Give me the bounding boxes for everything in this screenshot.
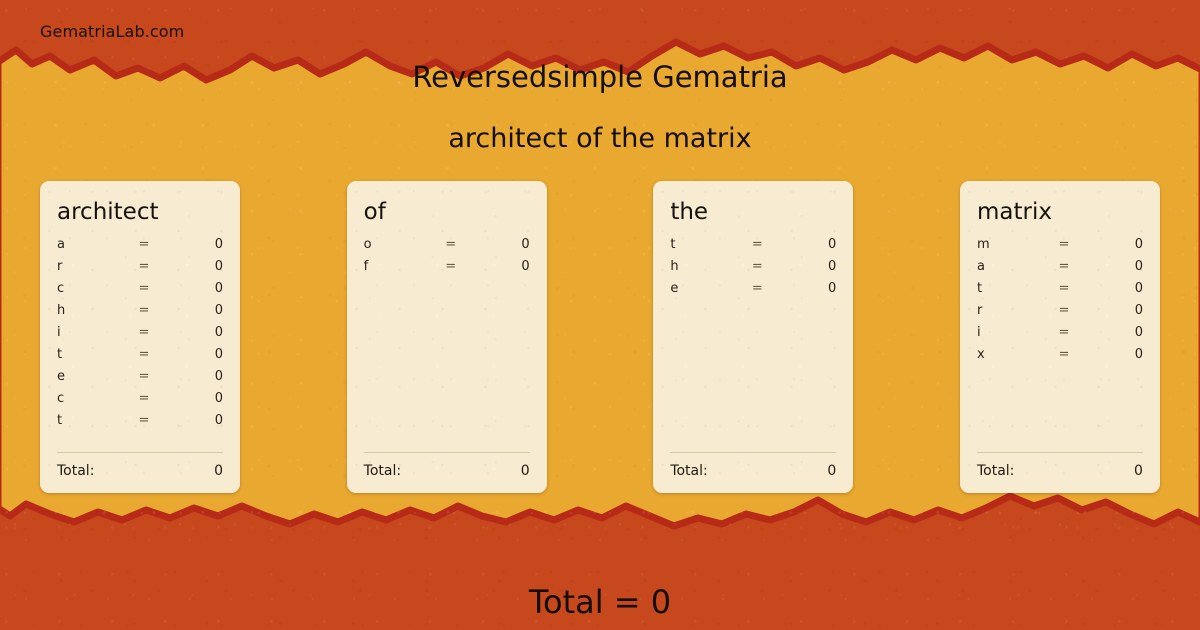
letter: e — [670, 281, 742, 296]
letter-value: 0 — [772, 237, 836, 252]
equals-sign: = — [1049, 303, 1079, 318]
word-card-list: architect a = 0 r = 0 c = 0 h — [40, 181, 1160, 493]
letter-row: e = 0 — [670, 281, 836, 303]
letter: r — [977, 303, 1049, 318]
letter-row: h = 0 — [670, 259, 836, 281]
letter: t — [977, 281, 1049, 296]
equals-sign: = — [1049, 347, 1079, 362]
letter-value: 0 — [159, 369, 223, 384]
equals-sign: = — [129, 259, 159, 274]
letter-value: 0 — [772, 259, 836, 274]
card-divider — [57, 452, 223, 453]
letter-value: 0 — [466, 259, 530, 274]
letter-row: e = 0 — [57, 369, 223, 391]
letter: c — [57, 281, 129, 296]
letter: h — [670, 259, 742, 274]
card-total-value: 0 — [827, 463, 836, 479]
card-total-row: Total: 0 — [364, 463, 530, 479]
equals-sign: = — [1049, 237, 1079, 252]
card-total-label: Total: — [364, 463, 521, 479]
equals-sign: = — [742, 237, 772, 252]
letter: t — [57, 347, 129, 362]
letter-value: 0 — [159, 413, 223, 428]
letter-row: f = 0 — [364, 259, 530, 281]
equals-sign: = — [129, 281, 159, 296]
equals-sign: = — [1049, 259, 1079, 274]
letter-row: x = 0 — [977, 347, 1143, 369]
equals-sign: = — [129, 369, 159, 384]
word-card: architect a = 0 r = 0 c = 0 h — [40, 181, 240, 493]
letter-row: r = 0 — [57, 259, 223, 281]
letter-row: c = 0 — [57, 281, 223, 303]
letter-value-list: m = 0 a = 0 t = 0 r = 0 — [977, 237, 1143, 452]
card-total-label: Total: — [57, 463, 214, 479]
letter-row: t = 0 — [57, 413, 223, 435]
letter: f — [364, 259, 436, 274]
letter-row: i = 0 — [977, 325, 1143, 347]
card-word-title: the — [670, 199, 836, 225]
card-divider — [977, 452, 1143, 453]
equals-sign: = — [742, 281, 772, 296]
letter-row: c = 0 — [57, 391, 223, 413]
equals-sign: = — [129, 391, 159, 406]
letter-row: t = 0 — [670, 237, 836, 259]
word-card: of o = 0 f = 0 Total: 0 — [347, 181, 547, 493]
letter: a — [57, 237, 129, 252]
equals-sign: = — [129, 237, 159, 252]
card-word-title: of — [364, 199, 530, 225]
card-total-value: 0 — [1134, 463, 1143, 479]
equals-sign: = — [129, 347, 159, 362]
letter-row: a = 0 — [57, 237, 223, 259]
letter-row: m = 0 — [977, 237, 1143, 259]
letter: t — [57, 413, 129, 428]
card-total-row: Total: 0 — [57, 463, 223, 479]
equals-sign: = — [1049, 281, 1079, 296]
letter-value: 0 — [1079, 347, 1143, 362]
card-divider — [670, 452, 836, 453]
letter-row: i = 0 — [57, 325, 223, 347]
equals-sign: = — [1049, 325, 1079, 340]
card-total-row: Total: 0 — [670, 463, 836, 479]
word-card: the t = 0 h = 0 e = 0 — [653, 181, 853, 493]
letter: m — [977, 237, 1049, 252]
letter-value: 0 — [159, 237, 223, 252]
equals-sign: = — [129, 413, 159, 428]
equals-sign: = — [129, 325, 159, 340]
letter-value-list: t = 0 h = 0 e = 0 — [670, 237, 836, 452]
equals-sign: = — [129, 303, 159, 318]
letter-value: 0 — [772, 281, 836, 296]
letter-value: 0 — [1079, 259, 1143, 274]
letter-value: 0 — [159, 325, 223, 340]
card-word-title: architect — [57, 199, 223, 225]
card-divider — [364, 452, 530, 453]
word-card: matrix m = 0 a = 0 t = 0 r — [960, 181, 1160, 493]
letter-value: 0 — [159, 281, 223, 296]
letter-value: 0 — [159, 347, 223, 362]
letter-value: 0 — [1079, 237, 1143, 252]
card-word-title: matrix — [977, 199, 1143, 225]
card-total-label: Total: — [670, 463, 827, 479]
letter-value: 0 — [159, 259, 223, 274]
letter-value: 0 — [1079, 325, 1143, 340]
letter-value: 0 — [159, 303, 223, 318]
card-total-label: Total: — [977, 463, 1134, 479]
phrase-subtitle: architect of the matrix — [0, 123, 1200, 154]
letter: r — [57, 259, 129, 274]
letter: e — [57, 369, 129, 384]
letter: t — [670, 237, 742, 252]
letter-row: a = 0 — [977, 259, 1143, 281]
letter-row: o = 0 — [364, 237, 530, 259]
letter-row: t = 0 — [57, 347, 223, 369]
site-logo[interactable]: GematriaLab.com — [40, 22, 184, 41]
equals-sign: = — [436, 259, 466, 274]
letter-value: 0 — [1079, 303, 1143, 318]
equals-sign: = — [742, 259, 772, 274]
grand-total: Total = 0 — [0, 583, 1200, 621]
letter: o — [364, 237, 436, 252]
letter-value: 0 — [159, 391, 223, 406]
letter: a — [977, 259, 1049, 274]
letter-row: t = 0 — [977, 281, 1143, 303]
page-canvas: GematriaLab.com Reversedsimple Gematria … — [0, 0, 1200, 630]
letter-value: 0 — [1079, 281, 1143, 296]
card-total-value: 0 — [214, 463, 223, 479]
letter-value-list: a = 0 r = 0 c = 0 h = 0 — [57, 237, 223, 452]
card-total-value: 0 — [521, 463, 530, 479]
letter-row: h = 0 — [57, 303, 223, 325]
letter: c — [57, 391, 129, 406]
letter: h — [57, 303, 129, 318]
letter-value: 0 — [466, 237, 530, 252]
letter-value-list: o = 0 f = 0 — [364, 237, 530, 452]
letter-row: r = 0 — [977, 303, 1143, 325]
letter: i — [977, 325, 1049, 340]
card-total-row: Total: 0 — [977, 463, 1143, 479]
equals-sign: = — [436, 237, 466, 252]
letter: x — [977, 347, 1049, 362]
page-title: Reversedsimple Gematria — [0, 60, 1200, 94]
letter: i — [57, 325, 129, 340]
